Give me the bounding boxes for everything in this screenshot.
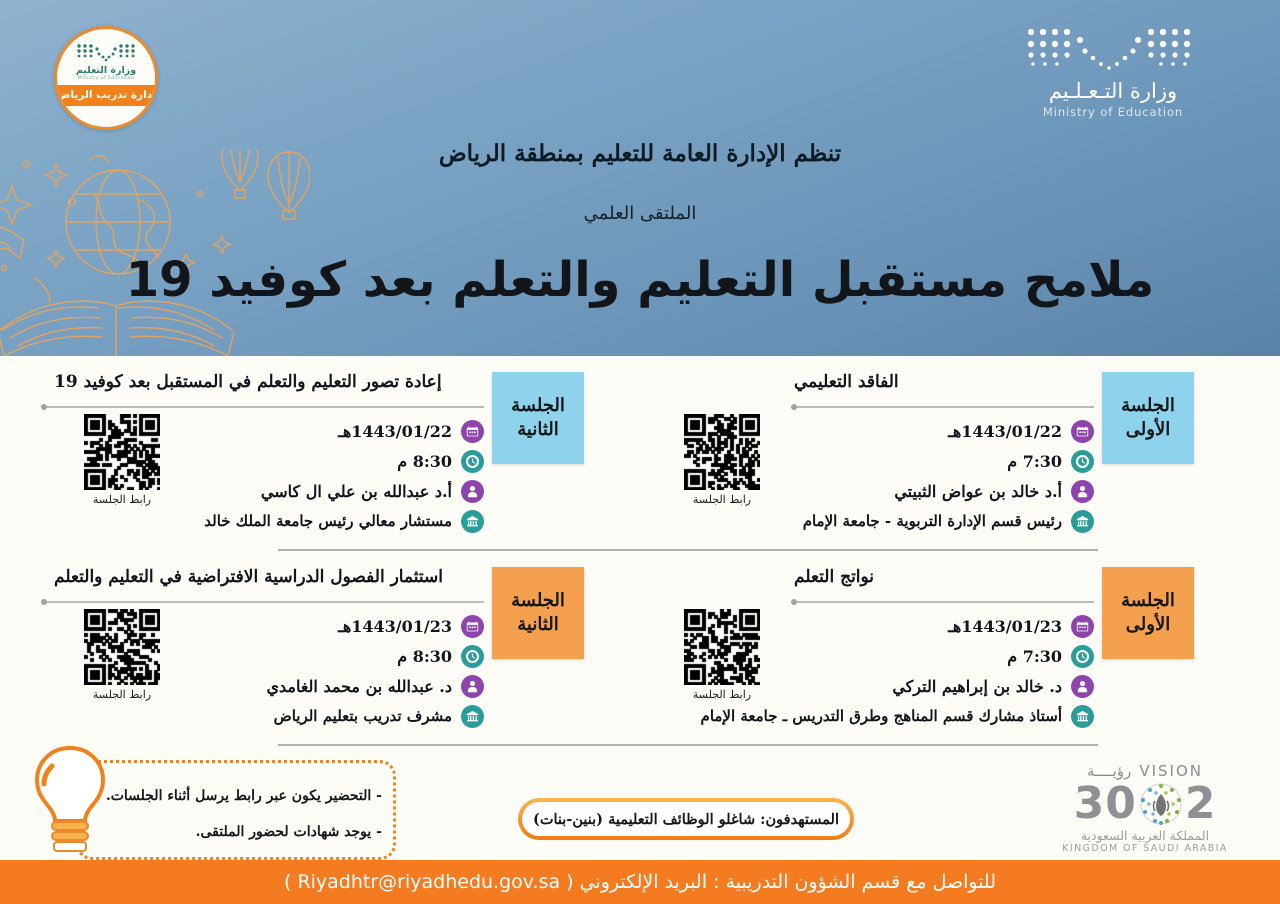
session-time-row: 7:30 م (794, 641, 1094, 671)
clock-icon (1071, 450, 1094, 473)
event-kind-label: الملتقى العلمي (0, 203, 1280, 224)
session-affiliation-row: مشرف تدريب بتعليم الرياض (64, 701, 484, 731)
institution-bank-icon (461, 705, 484, 728)
session-badge: الجلسة الأولى (1102, 567, 1194, 659)
session-affiliation: رئيس قسم الإدارة التربوية - جامعة الإمام (803, 512, 1062, 530)
calendar-icon (1071, 420, 1094, 443)
badge-ministry-english: Ministry of Education (78, 76, 135, 81)
person-icon (461, 480, 484, 503)
session-topic: نواتج التعلم (794, 567, 1094, 587)
session-meta: 1443/01/22هـ 7:30 م أ.د خالد بن عواض الث… (794, 416, 1094, 536)
session-badge: الجلسة الأولى (1102, 372, 1194, 464)
row-divider (278, 744, 1098, 746)
note-item: - التحضير يكون عبر رابط يرسل أثناء الجلس… (106, 788, 382, 804)
session-time-row: 7:30 م (794, 446, 1094, 476)
session-affiliation-row: رئيس قسم الإدارة التربوية - جامعة الإمام (794, 506, 1094, 536)
session-time: 8:30 م (397, 452, 452, 471)
session-time: 7:30 م (1007, 647, 1062, 666)
session-card[interactable]: الجلسة الأولى الفاقد التعليمي 1443/01/22… (670, 366, 1270, 548)
calendar-icon (1071, 615, 1094, 638)
clock-icon (461, 450, 484, 473)
calendar-icon (461, 615, 484, 638)
saudi-palm-dots-icon (75, 43, 137, 63)
moe-english-name: Ministry of Education (988, 105, 1238, 119)
qr-code-icon[interactable] (684, 414, 760, 490)
footer-bar: للتواصل مع قسم الشؤون التدريبية : البريد… (0, 860, 1280, 904)
topic-rule (44, 406, 484, 408)
session-speaker: د. خالد بن إبراهيم التركي (892, 677, 1062, 696)
session-topic: الفاقد التعليمي (794, 372, 1094, 392)
session-topic: استثمار الفصول الدراسية الافتراضية في ال… (54, 567, 484, 587)
institution-bank-icon (1071, 705, 1094, 728)
session-badge-line2: الأولى (1126, 613, 1170, 637)
session-affiliation-row: مستشار معالي رئيس جامعة الملك خالد (64, 506, 484, 536)
vision-2030-logo: VISION رؤيــــة 2 30 المملكة العربية الس… (1050, 762, 1240, 854)
session-affiliation: مستشار معالي رئيس جامعة الملك خالد (204, 512, 452, 530)
session-affiliation: مشرف تدريب بتعليم الرياض (274, 707, 452, 725)
session-meta: 1443/01/23هـ 7:30 م د. خالد بن إبراهيم ا… (794, 611, 1094, 731)
topic-rule (44, 601, 484, 603)
audience-text: المستهدفون: شاغلو الوظائف التعليمية (بني… (522, 802, 850, 836)
person-icon (461, 675, 484, 698)
session-card[interactable]: الجلسة الأولى نواتج التعلم 1443/01/23هـ (670, 561, 1270, 743)
qr-label: رابط الجلسة (74, 493, 170, 506)
session-date: 1443/01/23هـ (338, 617, 452, 636)
session-badge-line1: الجلسة (1121, 589, 1175, 613)
session-badge: الجلسة الثانية (492, 567, 584, 659)
notes-block: - التحضير يكون عبر رابط يرسل أثناء الجلس… (22, 760, 402, 868)
institution-bank-icon (461, 510, 484, 533)
vision-emblem-icon (1139, 782, 1183, 826)
moe-arabic-name: وزارة التـعـلـيم (988, 80, 1238, 102)
vision-number-left: 2 (1185, 783, 1217, 825)
riyadh-training-badge-logo: وزارة التعليم Ministry of Education إدار… (54, 26, 158, 130)
session-badge-line2: الثانية (517, 613, 559, 637)
session-time: 7:30 م (1007, 452, 1062, 471)
session-card[interactable]: الجلسة الثانية إعادة تصور التعليم والتعل… (60, 366, 660, 548)
session-time: 8:30 م (397, 647, 452, 666)
ministry-of-education-logo: وزارة التـعـلـيم Ministry of Education (988, 26, 1238, 119)
topic-rule (794, 601, 1094, 603)
vision-number-right: 30 (1074, 783, 1137, 825)
session-badge-line1: الجلسة (511, 394, 565, 418)
qr-label: رابط الجلسة (674, 493, 770, 506)
session-speaker-row: د. خالد بن إبراهيم التركي (794, 671, 1094, 701)
session-badge-line2: الأولى (1126, 418, 1170, 442)
badge-ministry-arabic: وزارة التعليم (76, 65, 136, 76)
session-speaker: د. عبدالله بن محمد الغامدي (266, 677, 452, 696)
person-icon (1071, 480, 1094, 503)
session-qr[interactable]: رابط الجلسة (674, 609, 770, 701)
session-qr[interactable]: رابط الجلسة (74, 609, 170, 701)
qr-code-icon[interactable] (84, 609, 160, 685)
row-divider (278, 549, 1098, 551)
badge-strip-label: إدارة تدريب الرياض (54, 85, 158, 106)
page-title: ملامح مستقبل التعليم والتعلم بعد كوفيد 1… (0, 252, 1280, 308)
session-card[interactable]: الجلسة الثانية استثمار الفصول الدراسية ا… (60, 561, 660, 743)
calendar-icon (461, 420, 484, 443)
footer-contact-text: للتواصل مع قسم الشؤون التدريبية : البريد… (284, 871, 996, 893)
session-affiliation-row: أستاذ مشارك قسم المناهج وطرق التدريس ـ ج… (794, 701, 1094, 731)
session-badge: الجلسة الثانية (492, 372, 584, 464)
session-badge-line1: الجلسة (1121, 394, 1175, 418)
session-affiliation: أستاذ مشارك قسم المناهج وطرق التدريس ـ ج… (701, 707, 1062, 725)
clock-icon (461, 645, 484, 668)
note-item: - يوجد شهادات لحضور الملتقى. (196, 824, 382, 840)
vision-kingdom-arabic: المملكة العربية السعودية (1050, 828, 1240, 843)
poster-root: وزارة التعليم Ministry of Education إدار… (0, 0, 1280, 904)
topic-rule (794, 406, 1094, 408)
person-icon (1071, 675, 1094, 698)
qr-label: رابط الجلسة (674, 688, 770, 701)
session-badge-line1: الجلسة (511, 589, 565, 613)
poster-header: وزارة التعليم Ministry of Education إدار… (0, 0, 1280, 356)
session-date-row: 1443/01/23هـ (794, 611, 1094, 641)
qr-label: رابط الجلسة (74, 688, 170, 701)
session-date: 1443/01/22هـ (338, 422, 452, 441)
institution-bank-icon (1071, 510, 1094, 533)
clock-icon (1071, 645, 1094, 668)
session-date: 1443/01/23هـ (948, 617, 1062, 636)
saudi-palm-dots-icon (1023, 26, 1203, 72)
vision-number-row: 2 30 (1050, 782, 1240, 826)
audience-pill: المستهدفون: شاغلو الوظائف التعليمية (بني… (518, 798, 854, 840)
notes-dashed-border (76, 760, 396, 860)
session-speaker-row: أ.د خالد بن عواض الثبيتي (794, 476, 1094, 506)
session-speaker: أ.د عبدالله بن علي ال كاسي (261, 482, 452, 501)
lightbulb-icon (22, 742, 118, 862)
session-speaker: أ.د خالد بن عواض الثبيتي (894, 482, 1062, 501)
session-qr[interactable]: رابط الجلسة (674, 414, 770, 506)
sessions-grid: الجلسة الأولى الفاقد التعليمي 1443/01/22… (0, 366, 1280, 752)
session-date: 1443/01/22هـ (948, 422, 1062, 441)
qr-code-icon[interactable] (684, 609, 760, 685)
vision-kingdom-english: KINGDOM OF SAUDI ARABIA (1050, 843, 1240, 854)
session-badge-line2: الثانية (517, 418, 559, 442)
session-qr[interactable]: رابط الجلسة (74, 414, 170, 506)
organizer-line: تنظم الإدارة العامة للتعليم بمنطقة الريا… (0, 140, 1280, 167)
session-topic: إعادة تصور التعليم والتعلم في المستقبل ب… (54, 372, 484, 392)
session-date-row: 1443/01/22هـ (794, 416, 1094, 446)
qr-code-icon[interactable] (84, 414, 160, 490)
